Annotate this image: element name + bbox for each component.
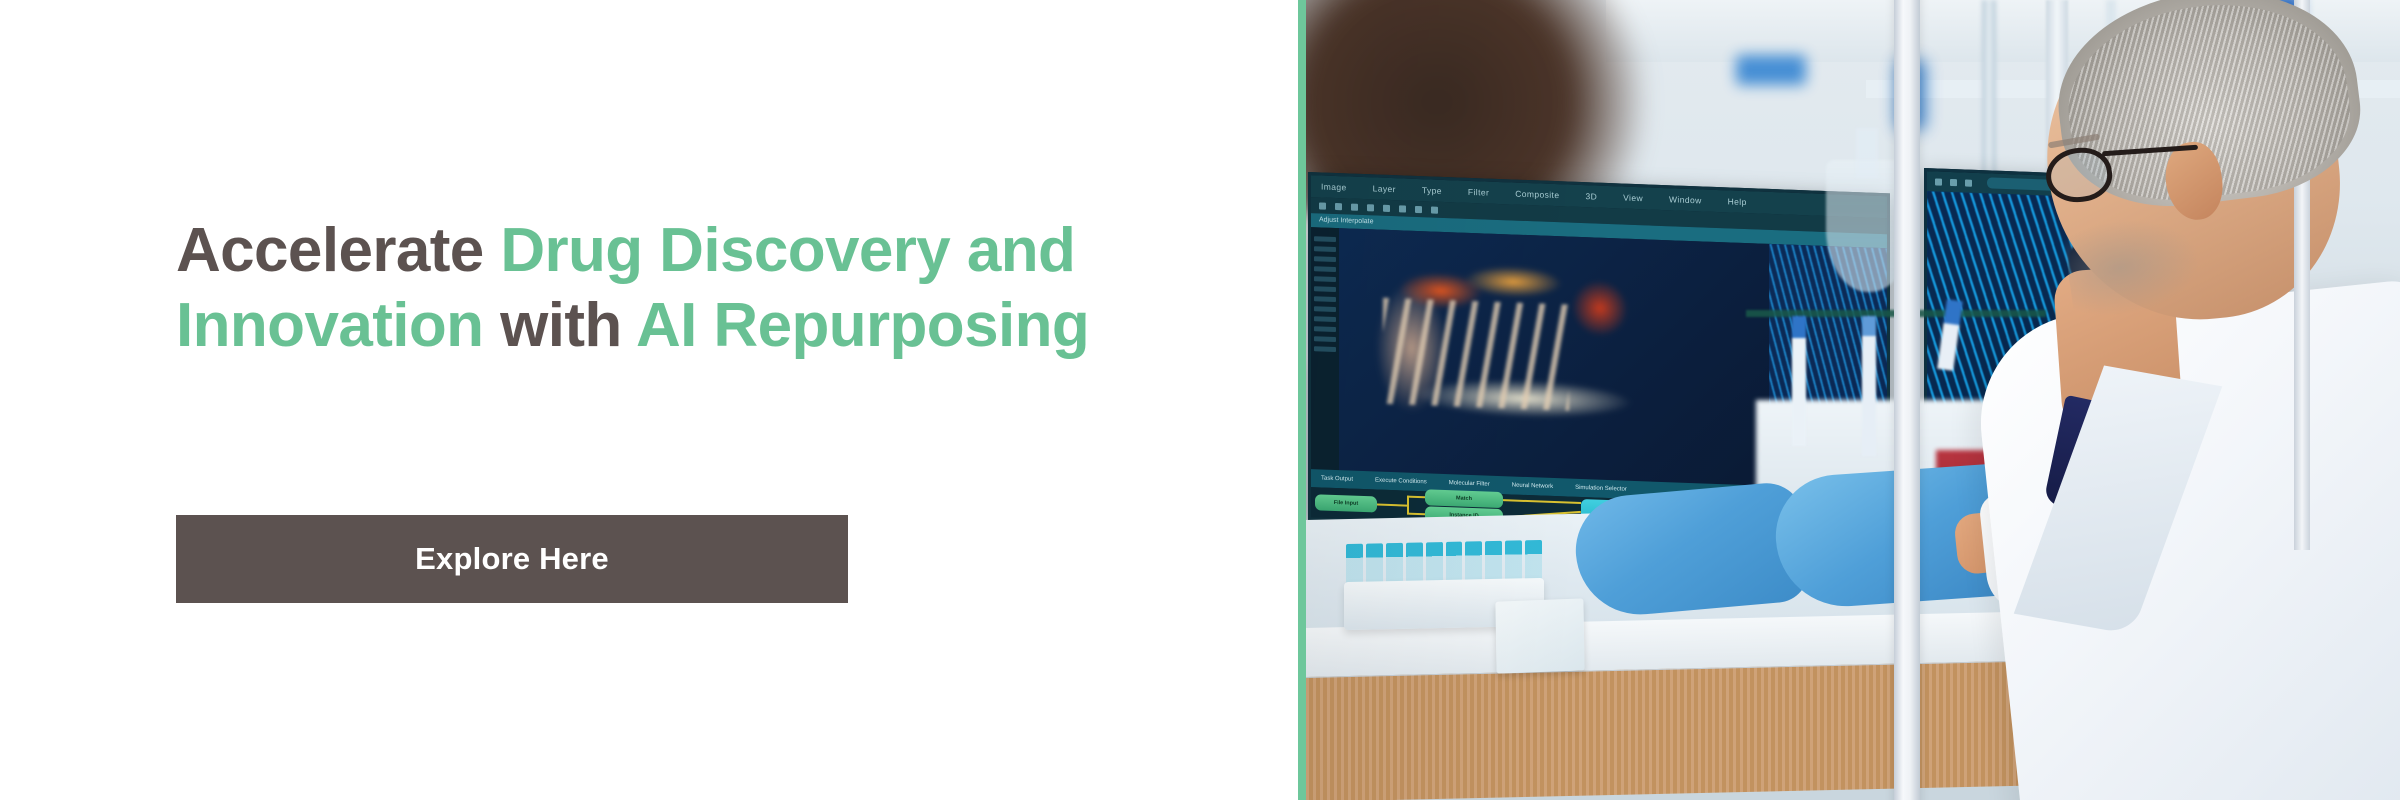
flow-edge [1407, 513, 1425, 515]
menu-item-view: View [1623, 193, 1643, 204]
blue-reagent-container [1736, 55, 1806, 85]
layer-row [1314, 336, 1336, 342]
menu-item-layer: Layer [1373, 183, 1396, 194]
layer-row [1314, 256, 1336, 262]
flask-neck [1856, 128, 1878, 178]
menu-item-type: Type [1422, 185, 1442, 196]
headline-segment-2: Drug Discovery and [500, 216, 1075, 285]
tool-icon-gradient [1415, 205, 1422, 212]
menu-item-help: Help [1728, 196, 1747, 207]
layer-row [1314, 316, 1336, 322]
explore-here-button[interactable]: Explore Here [176, 515, 848, 603]
layer-row [1314, 286, 1336, 292]
layer-row [1314, 346, 1336, 352]
headline-segment-3: Innovation [176, 291, 483, 360]
flow-node-file-input: File Input [1315, 494, 1377, 512]
tool-icon-brush [1335, 202, 1342, 209]
menu-item-filter: Filter [1468, 187, 1489, 198]
workflow-tab-4: Neural Network [1512, 482, 1553, 490]
scientist-beard-stubble [2062, 211, 2204, 320]
tool-icon-lasso [1351, 203, 1358, 210]
pipette-icon-1 [1792, 316, 1806, 446]
tool-icon-crop [1367, 204, 1374, 211]
gloved-hand-left [1571, 480, 1811, 620]
tool-icon-hand [1965, 179, 1972, 186]
tool-icon-pointer [1935, 178, 1942, 185]
flow-edge [1377, 504, 1407, 507]
accent-divider-bar [1298, 0, 1306, 800]
text-panel: Accelerate Drug Discovery and Innovation… [0, 0, 1298, 800]
tool-icon-eyedrop [1383, 204, 1390, 211]
layer-row [1314, 306, 1336, 312]
hero-image-panel: Image Layer Type Filter Composite 3D Vie… [1298, 0, 2400, 800]
headline-segment-5: AI Repurposing [636, 291, 1089, 360]
tool-icon-move [1319, 202, 1326, 209]
microscope-slide-box [1495, 598, 1584, 673]
workflow-tab-5: Simulation Selector [1575, 485, 1627, 493]
workflow-tab-3: Molecular Filter [1449, 480, 1490, 488]
tool-icon-eraser [1399, 205, 1406, 212]
tool-icon-shape [1431, 206, 1438, 213]
layer-row [1314, 236, 1336, 242]
tool-icon-zoom [1950, 178, 1957, 185]
menu-item-window: Window [1669, 194, 1702, 205]
dna-base-pair-rungs [1383, 297, 1569, 410]
menu-item-image: Image [1321, 181, 1347, 192]
flow-edge [1503, 499, 1581, 503]
laboratory-photo: Image Layer Type Filter Composite 3D Vie… [1306, 0, 2400, 800]
flow-node-match: Match [1425, 489, 1503, 508]
layer-row [1314, 326, 1336, 332]
menu-item-3d: 3D [1585, 191, 1597, 201]
pipette-icon-2 [1862, 316, 1876, 456]
scientist-lab-coat [1970, 277, 2400, 800]
flow-edge [1407, 496, 1409, 514]
headline-segment-1: Accelerate [176, 216, 484, 285]
layer-row [1314, 266, 1336, 272]
lab-support-pole-front [1894, 0, 1920, 800]
layer-row [1314, 296, 1336, 302]
flow-edge [1407, 496, 1425, 498]
page-title: Accelerate Drug Discovery and Innovation… [176, 213, 1176, 363]
menu-item-composite: Composite [1515, 189, 1559, 201]
headline-segment-4: with [500, 291, 622, 360]
workflow-tab-2: Execute Conditions [1375, 477, 1427, 485]
layers-sidebar [1311, 227, 1339, 470]
layer-row [1314, 246, 1336, 252]
hero-banner: Accelerate Drug Discovery and Innovation… [0, 0, 2400, 800]
workflow-tab-1: Task Output [1321, 475, 1353, 482]
layer-row [1314, 276, 1336, 282]
